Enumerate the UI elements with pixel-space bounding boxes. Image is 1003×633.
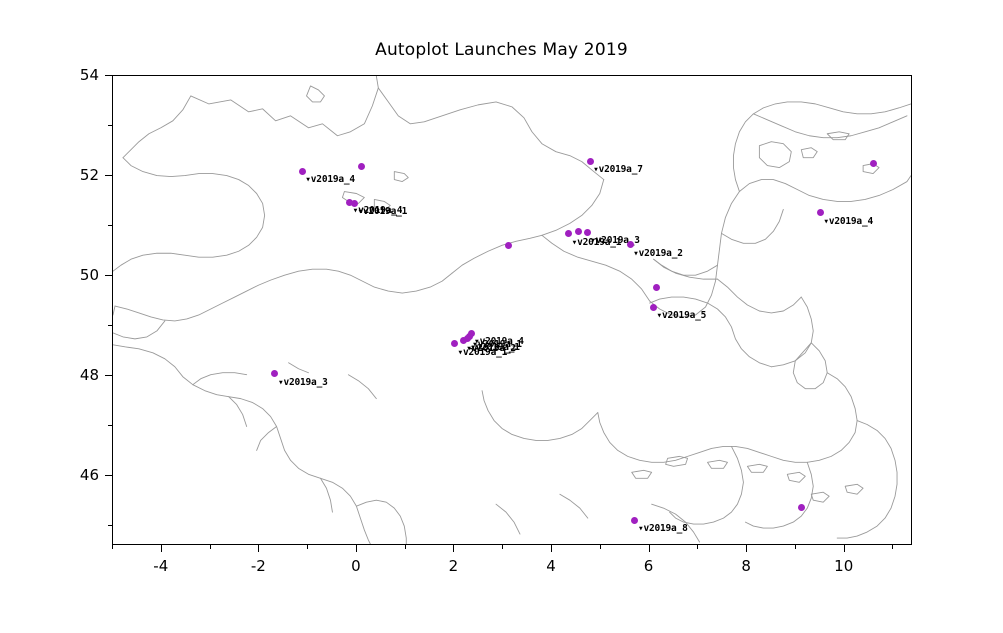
y-tick-label: 52 (57, 166, 99, 184)
y-tick-minor (108, 525, 112, 526)
scatter-point-label: ▾v2019a_1 (357, 206, 407, 217)
scatter-point-label: ▾v2019a_8 (638, 523, 688, 534)
y-tick-major (105, 375, 112, 376)
x-tick-major (453, 545, 454, 552)
y-tick-label: 48 (57, 366, 99, 384)
figure-canvas: Autoplot Launches May 2019 (0, 0, 1003, 633)
y-tick-label: 54 (57, 66, 99, 84)
x-tick-minor (405, 545, 406, 549)
x-tick-minor (112, 545, 113, 549)
x-tick-minor (697, 545, 698, 549)
x-tick-major (844, 545, 845, 552)
x-tick-major (161, 545, 162, 552)
y-tick-major (105, 75, 112, 76)
scatter-point-label: ▾v2019a_3 (278, 377, 328, 388)
scatter-point (870, 160, 877, 167)
x-tick-major (551, 545, 552, 552)
y-tick-major (105, 175, 112, 176)
scatter-point-label: ▾v2019a_4 (823, 216, 873, 227)
scatter-point (653, 284, 660, 291)
y-tick-minor (108, 125, 112, 126)
x-tick-label: -2 (251, 557, 266, 575)
y-tick-minor (108, 225, 112, 226)
y-tick-minor (108, 425, 112, 426)
scatter-points-layer: ▾v2019a_4▾v2019a_4▾v2019a_1▾v2019a_3▾v20… (113, 76, 911, 544)
plot-axes[interactable]: ▾v2019a_4▾v2019a_4▾v2019a_1▾v2019a_3▾v20… (112, 75, 912, 545)
x-tick-major (258, 545, 259, 552)
x-tick-major (356, 545, 357, 552)
scatter-point-label: ▾v2019a_5 (656, 310, 706, 321)
x-tick-minor (892, 545, 893, 549)
x-tick-label: 6 (644, 557, 654, 575)
x-tick-minor (795, 545, 796, 549)
x-tick-major (746, 545, 747, 552)
x-tick-major (649, 545, 650, 552)
x-tick-minor (307, 545, 308, 549)
y-tick-major (105, 275, 112, 276)
scatter-point (575, 228, 582, 235)
x-tick-label: -4 (153, 557, 168, 575)
x-tick-minor (600, 545, 601, 549)
scatter-point-label: ▾v2019a_4 (305, 174, 355, 185)
x-tick-label: 0 (351, 557, 361, 575)
x-tick-minor (210, 545, 211, 549)
scatter-point (798, 504, 805, 511)
x-tick-minor (502, 545, 503, 549)
x-tick-label: 4 (546, 557, 556, 575)
y-tick-major (105, 475, 112, 476)
scatter-point-label: ▾v2019a_7 (593, 164, 643, 175)
y-tick-minor (108, 325, 112, 326)
scatter-point (505, 242, 512, 249)
scatter-point (358, 163, 365, 170)
x-tick-label: 10 (834, 557, 853, 575)
x-tick-label: 8 (741, 557, 751, 575)
scatter-point-label: ▾v2019a_2 (633, 248, 683, 259)
page-title: Autoplot Launches May 2019 (0, 40, 1003, 60)
y-tick-label: 46 (57, 466, 99, 484)
y-tick-label: 50 (57, 266, 99, 284)
x-tick-label: 2 (449, 557, 459, 575)
scatter-point-label: ▾v2019a_1 (470, 342, 520, 353)
